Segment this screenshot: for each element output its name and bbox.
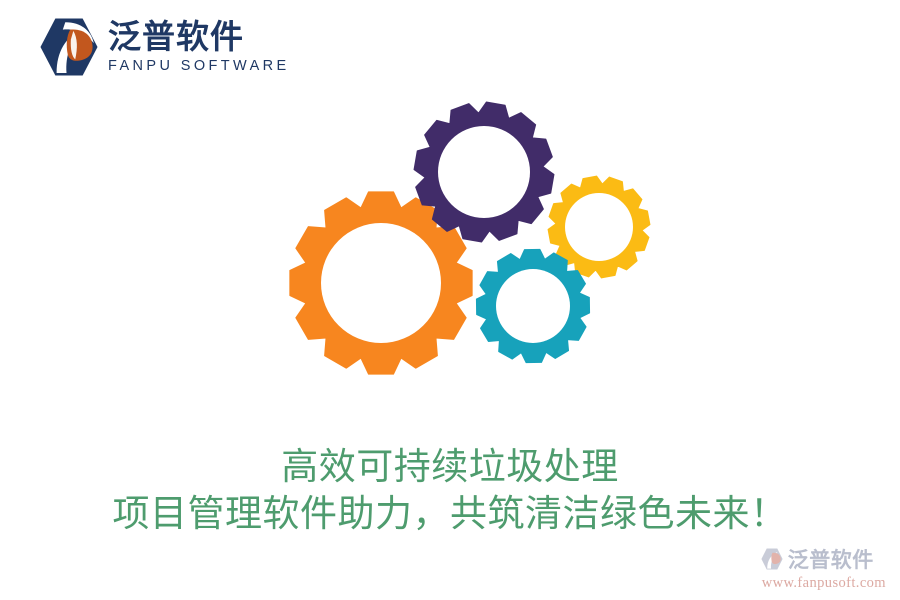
fanpu-hexagon-logo-icon [38,16,100,78]
brand-text: 泛普软件 FANPU SOFTWARE [108,18,290,76]
brand-logo[interactable]: 泛普软件 FANPU SOFTWARE [38,16,290,78]
headline-line-2: 项目管理软件助力，共筑清洁绿色未来！ [0,490,900,537]
gear-illustration [270,90,670,390]
brand-name-cn: 泛普软件 [108,20,290,55]
brand-name-en: FANPU SOFTWARE [108,57,290,76]
watermark-url: www.fanpusoft.com [762,575,886,592]
gear-teal-small [476,249,589,362]
watermark-row: 泛普软件 [760,544,874,574]
watermark-name-cn: 泛普软件 [788,544,874,574]
poster-canvas: 泛普软件 FANPU SOFTWARE 高效可持续垃圾处理 项目管理软件助力，共… [0,0,900,600]
gear-purple-medium [414,102,554,242]
fanpu-watermark-logo-icon [760,547,784,571]
four-gears-icon [270,90,670,390]
headline-line-1: 高效可持续垃圾处理 [0,443,900,490]
headline: 高效可持续垃圾处理 项目管理软件助力，共筑清洁绿色未来！ [0,443,900,537]
watermark: 泛普软件 www.fanpusoft.com [760,544,886,592]
